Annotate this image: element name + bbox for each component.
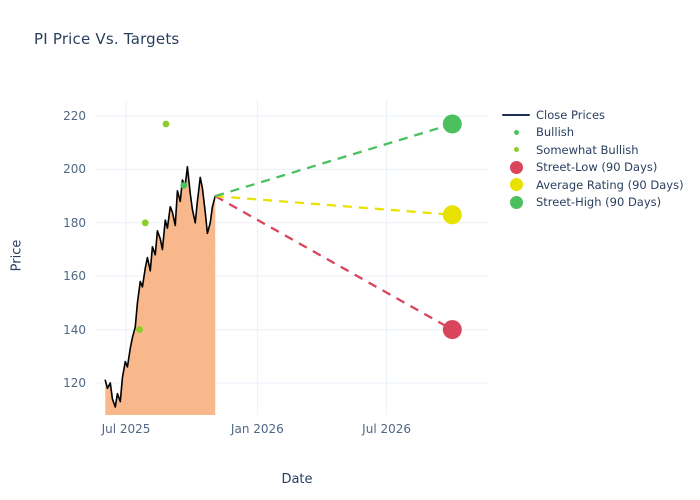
legend-item[interactable]: Bullish — [500, 124, 684, 142]
legend-item-label: Bullish — [536, 125, 574, 139]
x-tick-label: Jul 2025 — [81, 422, 171, 436]
x-axis-title: Date — [0, 472, 700, 487]
legend-dot-swatch — [500, 147, 532, 152]
chart-title: PI Price Vs. Targets — [34, 30, 179, 48]
legend-item-label: Close Prices — [536, 108, 605, 122]
y-axis-title: Price — [10, 226, 25, 286]
legend-item[interactable]: Somewhat Bullish — [500, 141, 684, 159]
chart-legend: Close PricesBullishSomewhat BullishStree… — [500, 106, 684, 211]
legend-item[interactable]: Average Rating (90 Days) — [500, 176, 684, 194]
series-layer — [105, 115, 462, 415]
dot-icon — [514, 147, 519, 152]
legend-dot-swatch — [500, 130, 532, 135]
y-tick-label: 140 — [42, 323, 86, 337]
x-tick-label: Jul 2026 — [342, 422, 432, 436]
y-tick-label: 200 — [42, 162, 86, 176]
legend-item[interactable]: Street-High (90 Days) — [500, 194, 684, 212]
legend-item[interactable]: Street-Low (90 Days) — [500, 159, 684, 177]
dot-icon — [510, 178, 523, 191]
x-axis-title-text: Date — [281, 472, 312, 487]
legend-dot-swatch — [500, 161, 532, 174]
x-tick-label: Jan 2026 — [212, 422, 302, 436]
legend-line-swatch — [500, 114, 532, 116]
y-tick-label: 160 — [42, 269, 86, 283]
chart-container: PI Price Vs. Targets 120140160180200220 … — [0, 0, 700, 500]
legend-item-label: Average Rating (90 Days) — [536, 178, 684, 192]
dot-icon — [510, 196, 523, 209]
legend-dot-swatch — [500, 196, 532, 209]
legend-item-label: Street-High (90 Days) — [536, 195, 661, 209]
y-tick-label: 120 — [42, 376, 86, 390]
dot-icon — [514, 130, 519, 135]
y-tick-label: 220 — [42, 109, 86, 123]
y-tick-label: 180 — [42, 216, 86, 230]
legend-dot-swatch — [500, 178, 532, 191]
legend-item-label: Somewhat Bullish — [536, 143, 639, 157]
legend-item[interactable]: Close Prices — [500, 106, 684, 124]
line-icon — [502, 114, 530, 116]
legend-item-label: Street-Low (90 Days) — [536, 160, 657, 174]
dot-icon — [510, 161, 523, 174]
